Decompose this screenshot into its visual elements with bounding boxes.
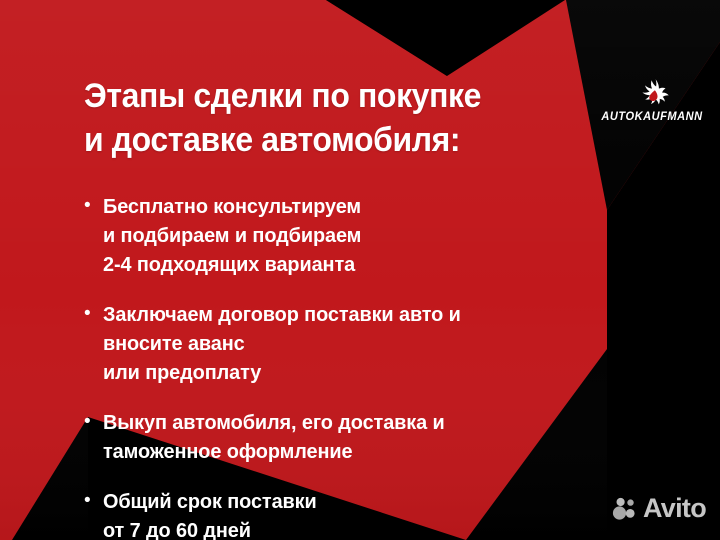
- list-item-line: от 7 до 60 дней: [103, 516, 608, 540]
- avito-watermark: Avito: [612, 495, 706, 522]
- list-item: • Выкуп автомобиля, его доставка и тамож…: [84, 408, 624, 466]
- list-item-line: Бесплатно консультируем: [103, 192, 608, 221]
- list-item: • Общий срок поставки от 7 до 60 дней: [84, 487, 624, 540]
- bullet-marker-icon: •: [84, 486, 103, 516]
- bullet-marker-icon: •: [84, 299, 103, 329]
- bullet-marker-icon: •: [84, 191, 103, 221]
- list-item-line: или предоплату: [103, 358, 608, 387]
- avito-wordmark: Avito: [643, 495, 706, 522]
- page-title: Этапы сделки по покупке и доставке автом…: [84, 74, 604, 162]
- list-item-line: вносите аванс: [103, 329, 608, 358]
- list-item-line: 2-4 подходящих варианта: [103, 250, 608, 279]
- list-item: • Бесплатно консультируем и подбираем и …: [84, 192, 624, 279]
- page-title-line-2: и доставке автомобиля:: [84, 118, 573, 162]
- list-item-line: Общий срок поставки: [103, 487, 608, 516]
- list-item-line: и подбираем и подбираем: [103, 221, 608, 250]
- page-title-line-1: Этапы сделки по покупке: [84, 74, 573, 118]
- bullet-marker-icon: •: [84, 407, 103, 437]
- avito-dots-icon: [612, 497, 637, 521]
- list-item-text: Общий срок поставки от 7 до 60 дней: [103, 487, 624, 540]
- list-item-line: Выкуп автомобиля, его доставка и: [103, 408, 608, 437]
- list-item-text: Заключаем договор поставки авто и вносит…: [103, 300, 624, 387]
- list-item-line: Заключаем договор поставки авто и: [103, 300, 608, 329]
- list-item-line: таможенное оформление: [103, 437, 608, 466]
- list-item-text: Бесплатно консультируем и подбираем и по…: [103, 192, 624, 279]
- list-item: • Заключаем договор поставки авто и внос…: [84, 300, 624, 387]
- promo-poster: Этапы сделки по покупке и доставке автом…: [0, 0, 720, 540]
- list-item-text: Выкуп автомобиля, его доставка и таможен…: [103, 408, 624, 466]
- brand-logo: AUTOKAUFMANN: [592, 78, 712, 123]
- flame-swirl-icon: [635, 78, 669, 110]
- brand-wordmark: AUTOKAUFMANN: [594, 111, 709, 123]
- benefits-list: • Бесплатно консультируем и подбираем и …: [84, 192, 624, 540]
